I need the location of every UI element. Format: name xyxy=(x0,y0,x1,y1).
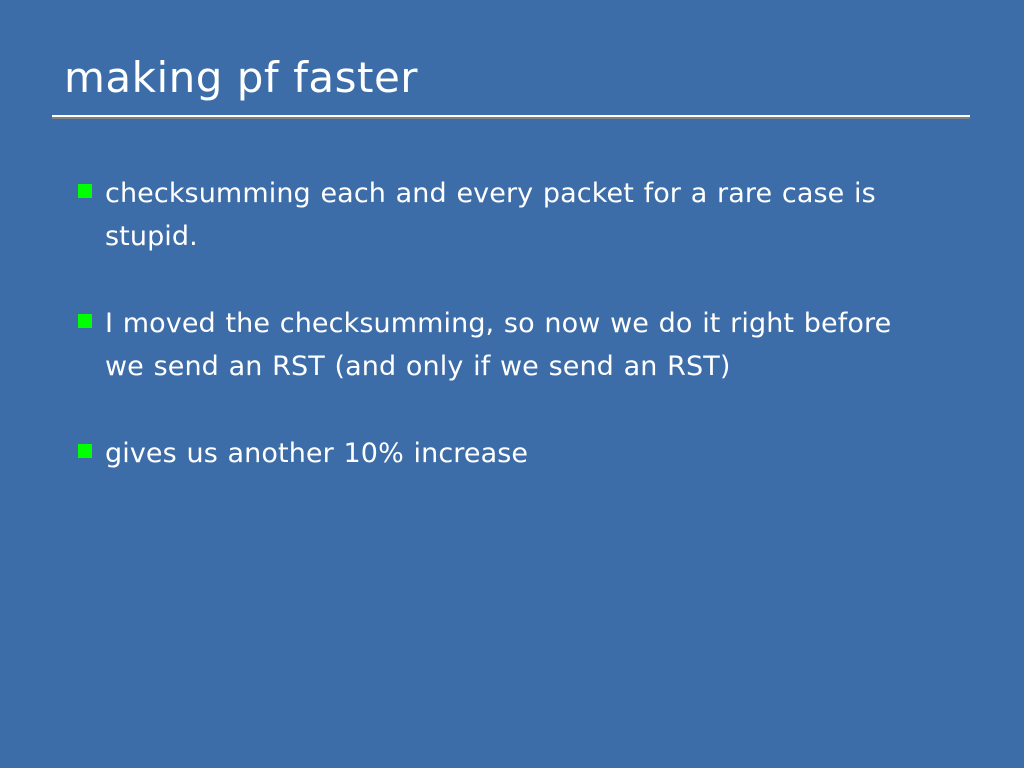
list-item-label: checksumming each and every packet for a… xyxy=(105,172,935,258)
list-item-label: I moved the checksumming, so now we do i… xyxy=(105,302,935,388)
slide-title-block: making pf faster xyxy=(0,52,1024,104)
page-title: making pf faster xyxy=(0,52,1024,104)
slide-body: checksumming each and every packet for a… xyxy=(0,172,1024,475)
list-item: I moved the checksumming, so now we do i… xyxy=(0,302,1024,388)
list-item-label: gives us another 10% increase xyxy=(105,432,935,475)
square-bullet-icon xyxy=(78,314,92,328)
title-divider xyxy=(52,115,970,119)
list-item: gives us another 10% increase xyxy=(0,432,1024,475)
square-bullet-icon xyxy=(78,444,92,458)
square-bullet-icon xyxy=(78,184,92,198)
presentation-slide: making pf faster checksumming each and e… xyxy=(0,0,1024,768)
title-divider-shadow xyxy=(52,117,970,119)
list-item: checksumming each and every packet for a… xyxy=(0,172,1024,258)
